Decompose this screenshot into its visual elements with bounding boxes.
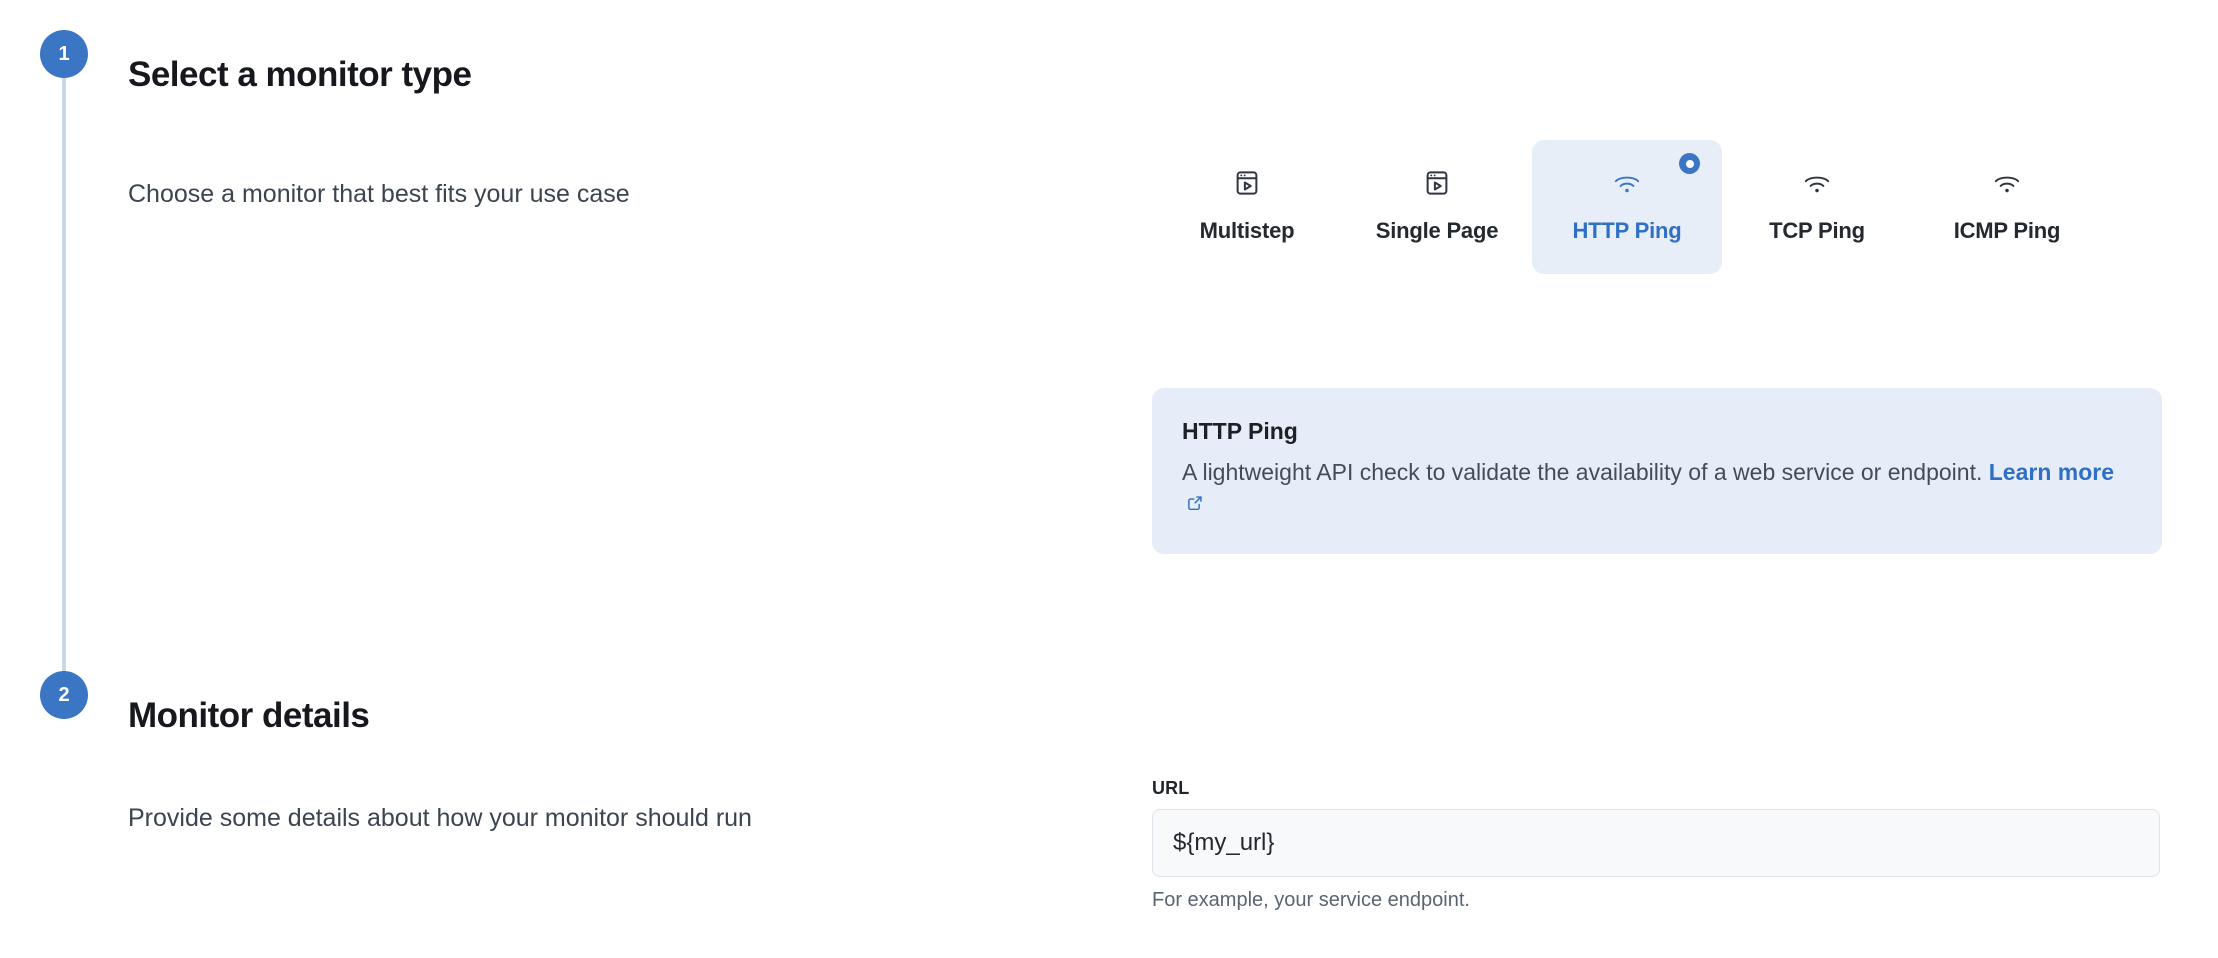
monitor-type-label: TCP Ping: [1769, 218, 1865, 244]
step-badge-2: 2: [40, 671, 88, 719]
external-link-icon: [1186, 489, 1204, 519]
url-field-block: URL For example, your service endpoint.: [1152, 778, 2162, 912]
monitor-type-card-http-ping[interactable]: HTTP Ping: [1532, 140, 1722, 274]
monitor-type-selector: Multistep Single Page: [1152, 140, 2162, 274]
section-title-select-monitor-type: Select a monitor type: [128, 55, 471, 95]
wifi-ping-icon: [1991, 166, 2023, 200]
section-title-monitor-details: Monitor details: [128, 696, 369, 736]
section-subtitle-monitor-details: Provide some details about how your moni…: [128, 804, 752, 833]
step-badge-1: 1: [40, 30, 88, 78]
step-number-2: 2: [58, 685, 69, 705]
info-panel-title: HTTP Ping: [1182, 418, 2132, 445]
info-panel-description-text: A lightweight API check to validate the …: [1182, 459, 1982, 485]
learn-more-label: Learn more: [1989, 459, 2114, 485]
monitor-type-info-panel: HTTP Ping A lightweight API check to val…: [1152, 388, 2162, 554]
wifi-ping-icon: [1611, 166, 1643, 200]
url-field-label: URL: [1152, 778, 2162, 799]
browser-window-play-icon: [1422, 166, 1452, 200]
monitor-type-card-tcp-ping[interactable]: TCP Ping: [1722, 140, 1912, 274]
monitor-type-label: Single Page: [1376, 218, 1499, 244]
monitor-type-card-single-page[interactable]: Single Page: [1342, 140, 1532, 274]
url-input[interactable]: [1152, 809, 2160, 877]
info-panel-description: A lightweight API check to validate the …: [1182, 457, 2132, 520]
learn-more-link[interactable]: Learn more: [1989, 459, 2114, 485]
monitor-type-card-multistep[interactable]: Multistep: [1152, 140, 1342, 274]
browser-window-play-icon: [1232, 166, 1262, 200]
url-field-help-text: For example, your service endpoint.: [1152, 889, 2162, 912]
step-number-1: 1: [58, 44, 69, 64]
right-content-column: Multistep Single Page: [1152, 0, 2162, 958]
monitor-type-card-icmp-ping[interactable]: ICMP Ping: [1912, 140, 2102, 274]
monitor-type-label: ICMP Ping: [1954, 218, 2061, 244]
monitor-type-label: HTTP Ping: [1572, 218, 1681, 244]
wifi-ping-icon: [1801, 166, 1833, 200]
radio-selected-indicator[interactable]: [1679, 153, 1700, 174]
monitor-type-label: Multistep: [1200, 218, 1295, 244]
stepper-connector-line: [62, 68, 66, 698]
section-subtitle-select-monitor-type: Choose a monitor that best fits your use…: [128, 180, 630, 209]
